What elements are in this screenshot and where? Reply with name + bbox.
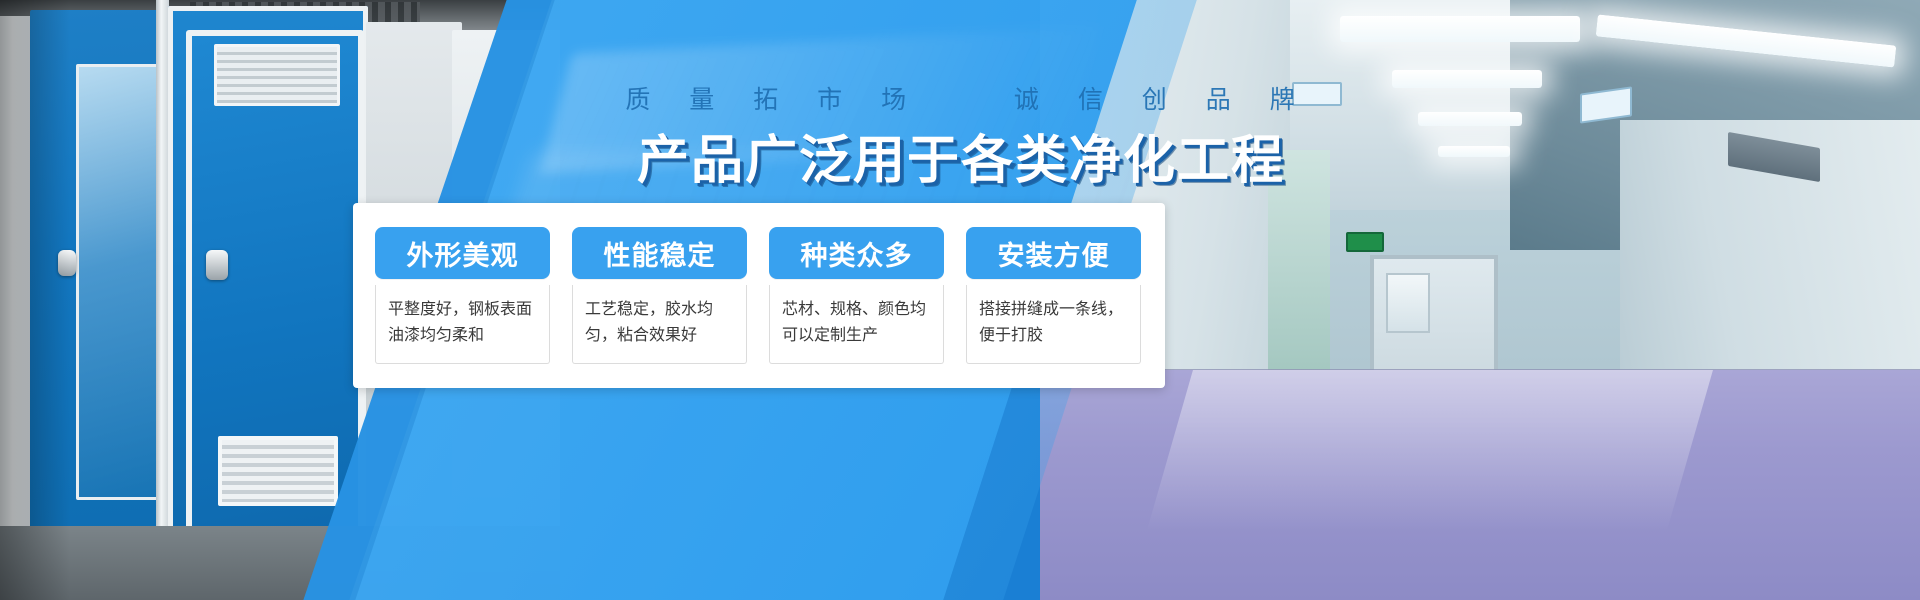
- feature-card[interactable]: 性能稳定 工艺稳定，胶水均匀，粘合效果好: [572, 227, 747, 364]
- feature-card-list: 外形美观 平整度好，钢板表面油漆均匀柔和 性能稳定 工艺稳定，胶水均匀，粘合效果…: [353, 203, 1165, 388]
- feature-card-title: 外形美观: [375, 227, 550, 279]
- feature-card[interactable]: 安装方便 搭接拼缝成一条线，便于打胶: [966, 227, 1141, 364]
- feature-card-panel: 外形美观 平整度好，钢板表面油漆均匀柔和 性能稳定 工艺稳定，胶水均匀，粘合效果…: [353, 203, 1165, 388]
- promo-banner: 质 量 拓 市 场 诚 信 创 品 牌 产品广泛用于各类净化工程 外形美观 平整…: [0, 0, 1920, 600]
- feature-card-title: 种类众多: [769, 227, 944, 279]
- feature-card-title: 安装方便: [966, 227, 1141, 279]
- feature-card[interactable]: 外形美观 平整度好，钢板表面油漆均匀柔和: [375, 227, 550, 364]
- banner-headline: 产品广泛用于各类净化工程: [0, 118, 1920, 193]
- feature-card-desc: 平整度好，钢板表面油漆均匀柔和: [375, 285, 550, 364]
- feature-card-desc: 搭接拼缝成一条线，便于打胶: [966, 285, 1141, 364]
- feature-card[interactable]: 种类众多 芯材、规格、颜色均可以定制生产: [769, 227, 944, 364]
- feature-card-title: 性能稳定: [572, 227, 747, 279]
- feature-card-desc: 工艺稳定，胶水均匀，粘合效果好: [572, 285, 747, 364]
- feature-card-desc: 芯材、规格、颜色均可以定制生产: [769, 285, 944, 364]
- banner-tagline: 质 量 拓 市 场 诚 信 创 品 牌: [0, 80, 1920, 116]
